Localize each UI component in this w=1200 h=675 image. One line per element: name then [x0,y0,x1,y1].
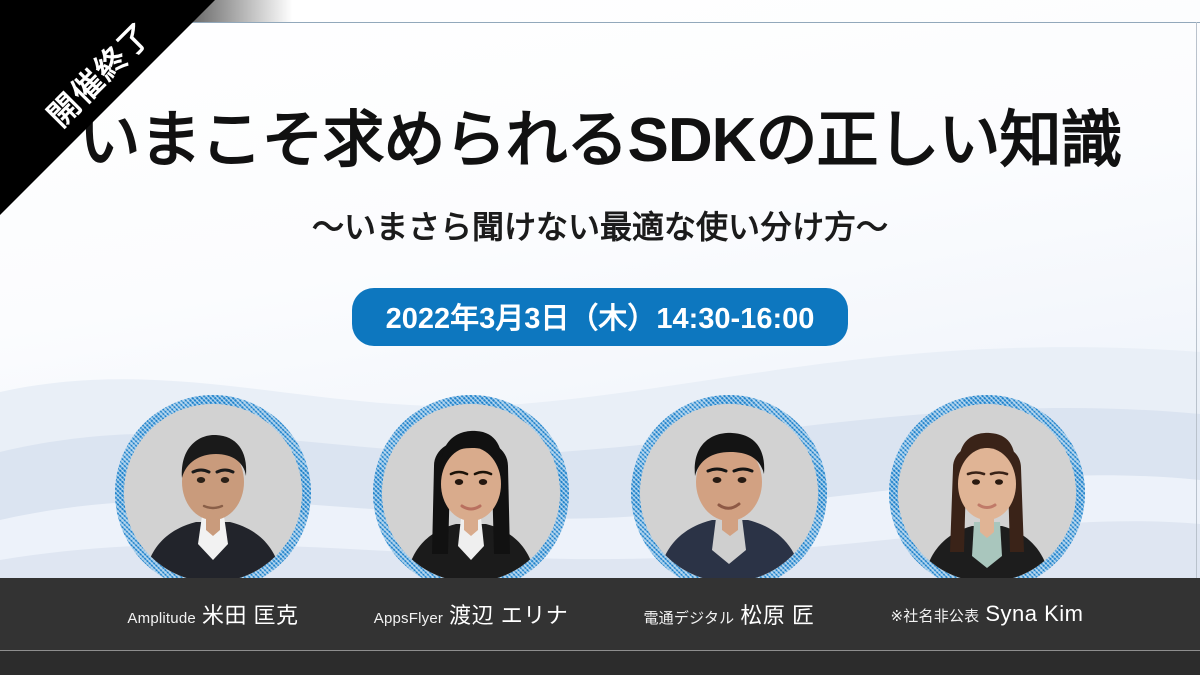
portrait-ring-1 [373,395,569,591]
portrait-ring-3 [889,395,1085,591]
speaker-person-2: 松原 匠 [740,603,814,628]
date-badge: 2022年3月3日（木）14:30-16:00 [352,288,849,346]
speaker-name-2: 電通デジタル松原 匠 [631,598,827,630]
speaker-portrait-4-icon [898,404,1076,582]
portrait-ring-2 [631,395,827,591]
speaker-org-2: 電通デジタル [643,610,734,627]
speaker-person-3: Syna Kim [985,601,1083,626]
speaker-1 [373,395,569,591]
speaker-portraits [0,395,1200,595]
portrait-ring-0 [115,395,311,591]
speaker-portrait-2-icon [382,404,560,582]
speaker-2 [631,395,827,591]
speaker-0 [115,395,311,591]
speaker-person-0: 米田 匡克 [202,603,299,628]
webinar-banner: ミナー 開催終了 いまこそ求められるSDKの正しい知識 〜いまさら聞けない最適な… [0,0,1200,675]
speaker-name-0: Amplitude米田 匡克 [115,598,311,630]
date-badge-row: 2022年3月3日（木）14:30-16:00 [0,288,1200,346]
footer-strip [0,651,1200,675]
speaker-portrait-3-icon [640,404,818,582]
speaker-name-bar: Amplitude米田 匡克 AppsFlyer渡辺 エリナ 電通デジタル松原 … [0,578,1200,650]
speaker-org-3: ※社名非公表 [891,608,980,625]
speaker-org-0: Amplitude [127,610,196,627]
event-ended-ribbon: 開催終了 [0,0,215,215]
speaker-portrait-1-icon [124,404,302,582]
speaker-org-1: AppsFlyer [374,610,443,627]
speaker-name-1: AppsFlyer渡辺 エリナ [373,598,569,630]
speaker-name-3: ※社名非公表Syna Kim [889,601,1085,627]
speaker-3 [889,395,1085,591]
speaker-person-1: 渡辺 エリナ [449,603,568,628]
bottom-divider-line [0,650,1200,651]
